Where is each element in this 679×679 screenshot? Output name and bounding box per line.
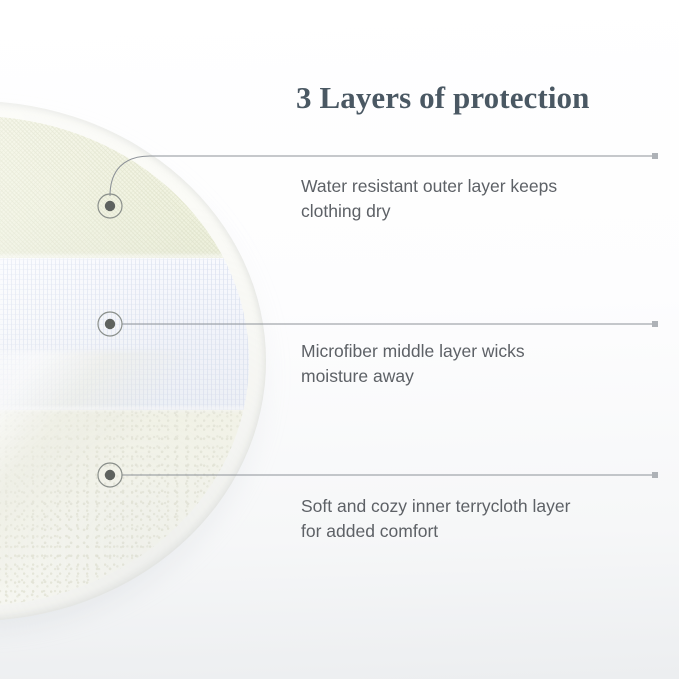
leader-endcap-middle bbox=[652, 321, 658, 327]
marker-inner-layer[interactable] bbox=[98, 463, 122, 487]
leader-endcap-outer bbox=[652, 153, 658, 159]
callout-layer: 3 Layers of protection Water resistant o… bbox=[0, 0, 679, 679]
callout-line-2: clothing dry bbox=[301, 199, 631, 224]
page-title: 3 Layers of protection bbox=[296, 80, 641, 116]
callout-line-2: for added comfort bbox=[301, 519, 631, 544]
callout-text-inner-layer: Soft and cozy inner terrycloth layer for… bbox=[301, 494, 631, 544]
callout-line-1: Soft and cozy inner terrycloth layer bbox=[301, 494, 631, 519]
callout-text-middle-layer: Microfiber middle layer wicks moisture a… bbox=[301, 339, 631, 389]
callout-line-1: Water resistant outer layer keeps bbox=[301, 174, 631, 199]
callout-text-outer-layer: Water resistant outer layer keeps clothi… bbox=[301, 174, 631, 224]
marker-middle-layer[interactable] bbox=[98, 312, 122, 336]
leader-endcap-inner bbox=[652, 472, 658, 478]
infographic-canvas: 3 Layers of protection Water resistant o… bbox=[0, 0, 679, 679]
marker-outer-layer[interactable] bbox=[98, 194, 122, 218]
callout-line-2: moisture away bbox=[301, 364, 631, 389]
callout-line-1: Microfiber middle layer wicks bbox=[301, 339, 631, 364]
